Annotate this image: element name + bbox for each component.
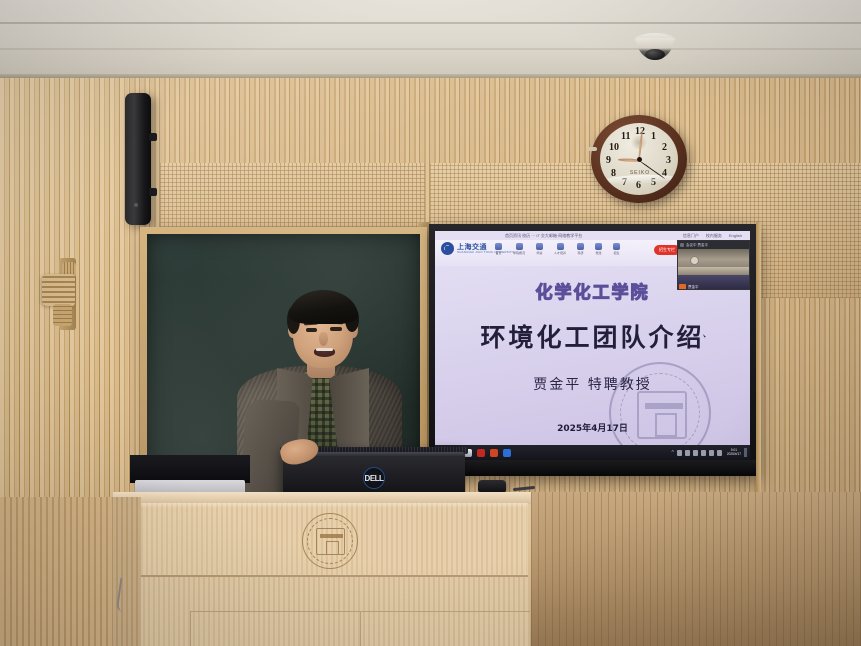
ceiling — [0, 0, 861, 78]
book-icon — [613, 243, 620, 250]
clock-numeral: 1 — [651, 132, 656, 142]
pip-participant-name: 贾金平 — [688, 285, 699, 290]
clock-numeral: 11 — [621, 132, 630, 142]
campus-service-link[interactable]: 校内服务 — [706, 233, 722, 239]
slide-content: 化学化工学院 环境化工团队介绍 贾金平 特聘教授 2025年4月17日 — [435, 266, 750, 445]
lower-wall-left — [0, 497, 115, 646]
clock-numeral: 10 — [609, 143, 619, 153]
taskbar-clock[interactable]: 9:01 2025/4/17 — [727, 449, 741, 456]
pip-title: 会议中 贾金平 — [686, 243, 708, 248]
slide-presenter: 贾金平 特聘教授 — [435, 374, 750, 394]
building-icon — [516, 243, 523, 250]
sjtu-seal-icon — [441, 242, 454, 255]
video-conference-window[interactable]: 会议中 贾金平 贾金平 — [677, 240, 750, 290]
notification-icon[interactable] — [717, 450, 722, 456]
nav-item-research[interactable]: 科研 — [577, 243, 584, 255]
flag-icon — [595, 243, 602, 250]
wall-seam — [756, 222, 761, 497]
wooden-wall-ornament — [42, 258, 88, 330]
lock-icon[interactable] — [685, 450, 690, 456]
clock-numeral: 9 — [606, 156, 611, 166]
slide-main-title: 环境化工团队介绍 — [435, 318, 750, 354]
clock-numeral: 3 — [666, 156, 671, 166]
battery-icon[interactable] — [677, 450, 682, 456]
nav-item-label: 师资 — [537, 251, 543, 255]
nav-item-label: 招生 — [614, 251, 620, 255]
powerpoint-icon[interactable] — [490, 449, 498, 457]
nav-item-label: 人才培养 — [554, 251, 566, 255]
clock-numeral: 2 — [662, 143, 667, 153]
podium-side-panel — [113, 497, 141, 646]
nav-item-label: 首页 — [495, 251, 501, 255]
slide-date: 2025年4月17日 — [435, 421, 750, 434]
flask-icon — [577, 243, 584, 250]
people-icon — [536, 243, 543, 250]
desk-device — [478, 480, 506, 492]
video-camera-icon — [680, 243, 684, 247]
nav-item-home[interactable]: 首页 — [495, 243, 502, 255]
nav-item-label: 学院概况 — [513, 251, 525, 255]
presentation-display[interactable]: 首页资讯 校历 ··· IT 交大邮箱·网络教学平台 信息门户 校内服务 Eng… — [429, 224, 756, 476]
nav-item-label: 科研 — [578, 251, 584, 255]
presenter-eye-left — [306, 328, 317, 332]
browser-top-strip: 首页资讯 校历 ··· IT 交大邮箱·网络教学平台 信息门户 校内服务 Eng… — [435, 231, 750, 240]
ime-icon[interactable] — [709, 450, 714, 456]
wall-clock: 12 1 2 3 4 5 6 7 8 9 10 11 SEIKO — [591, 115, 687, 203]
nav-item-about[interactable]: 学院概况 — [513, 243, 525, 255]
chevron-up-icon[interactable]: ^ — [671, 450, 673, 456]
pdf-reader-icon[interactable] — [477, 449, 485, 457]
home-icon — [495, 243, 502, 250]
presenter-eye-right — [330, 327, 342, 331]
secondary-monitor — [130, 455, 250, 483]
pip-titlebar[interactable]: 会议中 贾金平 — [678, 241, 750, 249]
clock-hour-hand — [618, 158, 639, 162]
nav-item-education[interactable]: 人才培养 — [554, 243, 566, 255]
top-strip-left-text: 首页资讯 校历 ··· IT 交大邮箱·网络教学平台 — [505, 233, 582, 239]
graduation-cap-icon — [557, 243, 564, 250]
display-screen[interactable]: 首页资讯 校历 ··· IT 交大邮箱·网络教学平台 信息门户 校内服务 Eng… — [435, 231, 750, 460]
windows-taskbar[interactable]: ^ 9:01 2025/4/17 — [435, 445, 750, 460]
portal-link[interactable]: 信息门户 — [683, 233, 699, 239]
volume-icon[interactable] — [701, 450, 706, 456]
english-link[interactable]: English — [729, 233, 742, 239]
pip-video-feed — [678, 249, 750, 275]
show-desktop-button[interactable] — [744, 448, 747, 457]
dell-logo: DELL — [363, 467, 385, 489]
lecture-hall-photo: 12 1 2 3 4 5 6 7 8 9 10 11 SEIKO — [0, 0, 861, 646]
nav-item-admissions[interactable]: 招生 — [613, 243, 620, 255]
sjtu-podium-seal — [302, 513, 358, 569]
clock-face: 12 1 2 3 4 5 6 7 8 9 10 11 SEIKO — [600, 123, 678, 195]
nav-item-label: 党建 — [596, 251, 602, 255]
wall-speaker — [125, 93, 151, 225]
nav-item-party[interactable]: 党建 — [595, 243, 602, 255]
nav-item-faculty[interactable]: 师资 — [536, 243, 543, 255]
pip-participant-strip[interactable]: 贾金平 — [678, 275, 750, 290]
network-icon[interactable] — [693, 450, 698, 456]
meeting-app-icon[interactable] — [503, 449, 511, 457]
dome-security-camera-icon — [633, 33, 677, 63]
presenter-hair — [289, 290, 358, 324]
display-bottom-bezel — [429, 460, 756, 476]
nav-items: 首页 学院概况 师资 人才培养 — [495, 243, 620, 255]
participant-avatar — [679, 284, 686, 290]
clock-date: 2025/4/17 — [727, 453, 741, 457]
